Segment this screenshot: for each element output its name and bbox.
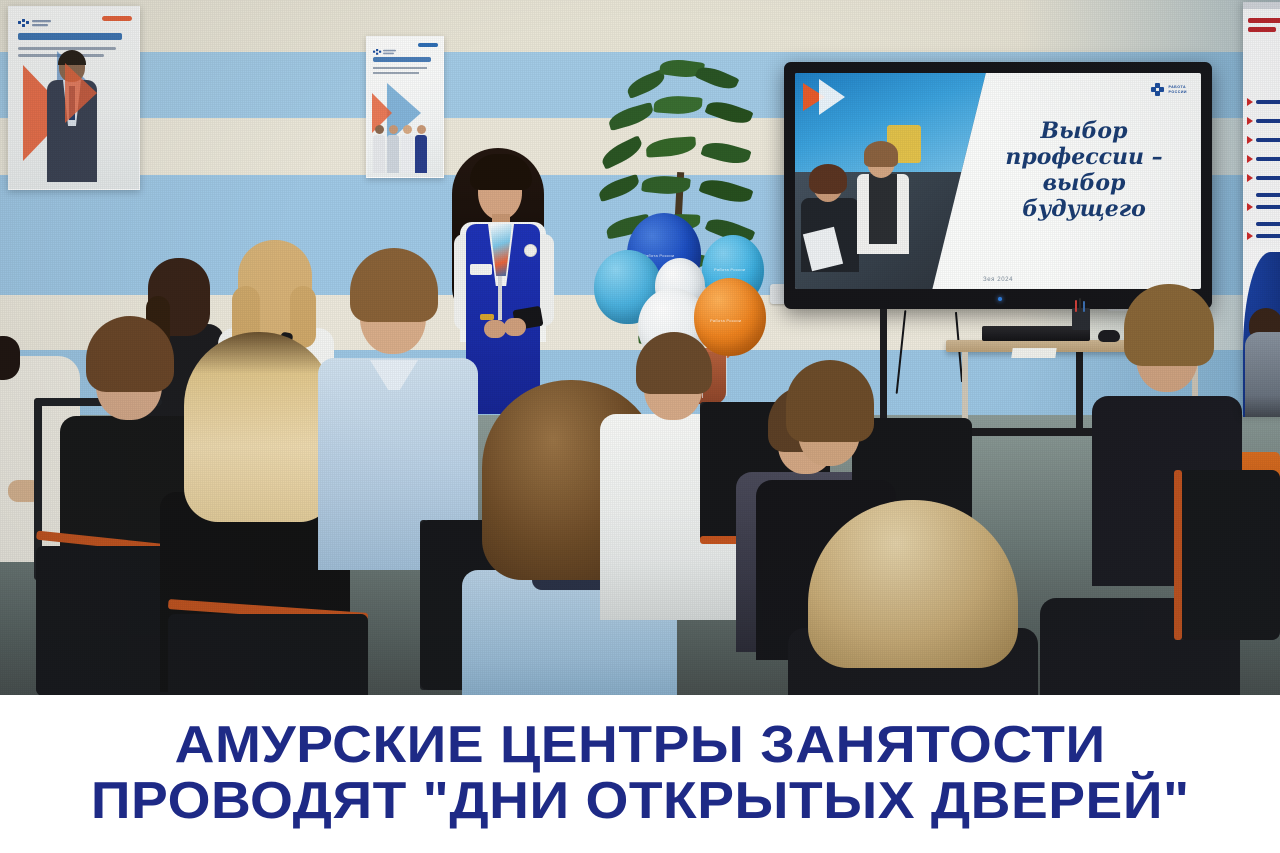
interactive-panel[interactable]: РАБОТА РОССИИ Выбор профессии – выбор бу…: [784, 62, 1212, 309]
poster-left-logo-icon: [18, 15, 52, 24]
poster-left-accent-pill: [102, 16, 132, 21]
balloon-orange: Работа России: [694, 278, 766, 356]
bullet-arrow-icon: [1247, 117, 1253, 125]
poster-center-accent-pill: [418, 43, 438, 47]
poster-left-headline: [18, 33, 122, 40]
presenter-lanyard: [498, 276, 502, 320]
banner-title: [1248, 18, 1280, 36]
slide-title-line-1: Выбор: [979, 119, 1189, 145]
brand-line-1: РАБОТА: [1168, 85, 1187, 89]
banner-top-rail: [1243, 2, 1280, 9]
rabota-rossii-logo: РАБОТА РОССИИ: [1151, 83, 1187, 96]
presenter-wristwatch: [480, 314, 494, 320]
bullet-arrow-icon: [1247, 136, 1253, 144]
panel-screen: РАБОТА РОССИИ Выбор профессии – выбор бу…: [795, 73, 1201, 289]
bullet-arrow-icon: [1247, 155, 1253, 163]
event-photograph: РАБОТА РОССИИ Выбор профессии – выбор бу…: [0, 0, 1280, 695]
brand-line-2: РОССИИ: [1168, 90, 1187, 94]
wall-poster-left: [8, 6, 140, 190]
pen-holder: [1072, 308, 1090, 330]
bullet-arrow-icon: [1247, 232, 1253, 240]
poster-left-orange-triangle-icon-2: [65, 63, 97, 123]
attendee-front-blond: [788, 500, 1038, 695]
poster-center-text-line: [373, 72, 419, 74]
rabota-rossii-mark-icon: [1151, 83, 1164, 96]
slide-footer: Зея 2024: [983, 277, 1013, 283]
bullet-arrow-icon: [1247, 203, 1253, 211]
presenter-hand-left: [484, 320, 506, 338]
poster-center-logo-icon: [373, 43, 397, 50]
banner-bullet-list: [1247, 98, 1280, 251]
slide-title-line-4: будущего: [979, 197, 1189, 223]
poster-center-headline: [373, 57, 431, 62]
presenter-hair-front: [470, 154, 532, 190]
caption-band: АМУРСКИЕ ЦЕНТРЫ ЗАНЯТОСТИ ПРОВОДЯТ "ДНИ …: [0, 695, 1280, 853]
slide-photo-collage: [795, 73, 986, 289]
slide-title: Выбор профессии – выбор будущего: [979, 119, 1189, 223]
wall-poster-center: [366, 36, 444, 178]
caption-line-2: ПРОВОДЯТ "ДНИ ОТКРЫТЫХ ДВЕРЕЙ": [91, 774, 1190, 830]
banner-figure: [1245, 332, 1280, 417]
presenter-pin-icon: [524, 244, 537, 257]
caption-line-1: АМУРСКИЕ ЦЕНТРЫ ЗАНЯТОСТИ: [174, 718, 1105, 774]
bullet-arrow-icon: [1247, 98, 1253, 106]
news-photo-card: РАБОТА РОССИИ Выбор профессии – выбор бу…: [0, 0, 1280, 853]
slide-title-line-2: профессии –: [979, 145, 1189, 171]
slide-title-line-3: выбор: [979, 171, 1189, 197]
poster-center-text-line: [373, 67, 427, 69]
presenter-hand-right: [504, 318, 526, 336]
paper-sheets: [1011, 348, 1056, 358]
poster-left-text-line: [18, 47, 116, 50]
poster-center-figures: [371, 115, 439, 173]
bullet-arrow-icon: [1247, 174, 1253, 182]
roll-up-banner-right: [1243, 2, 1280, 417]
panel-power-led-icon: [998, 297, 1002, 301]
